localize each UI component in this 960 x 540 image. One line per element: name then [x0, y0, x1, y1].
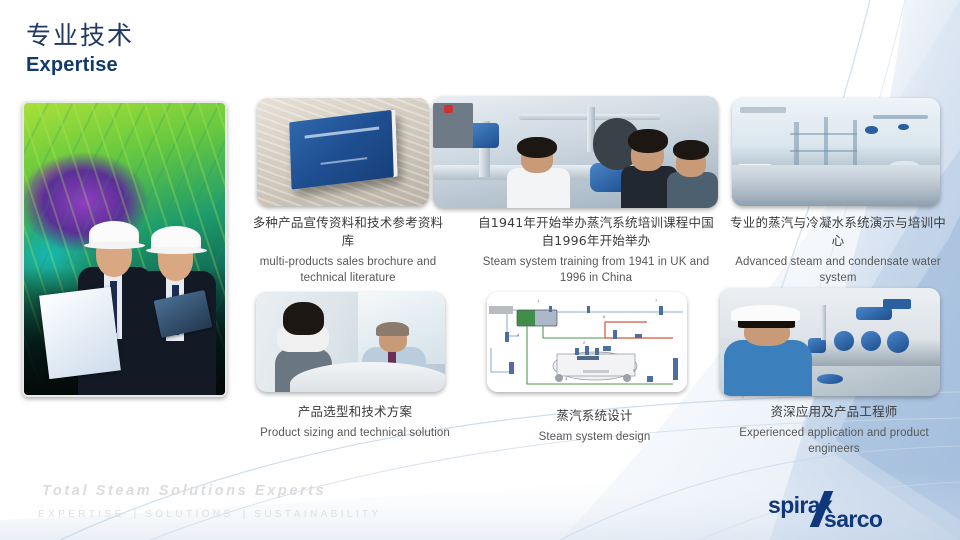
- page-title-cn: 专业技术: [26, 22, 134, 51]
- steam-system-schematic-diagram: 146 725 3: [487, 292, 687, 392]
- footer-separator-2: |: [234, 509, 255, 520]
- customer-consultation-meeting-photo: [256, 292, 445, 392]
- slide-title-block: 专业技术 Expertise: [26, 22, 134, 77]
- caption-brochure: 多种产品宣传资料和技术参考资料库 multi-products sales br…: [248, 214, 448, 286]
- caption-brochure-cn: 多种产品宣传资料和技术参考资料库: [248, 214, 448, 250]
- caption-centre: 专业的蒸汽与冷凝水系统演示与培训中心 Advanced steam and co…: [726, 214, 950, 286]
- caption-brochure-en: multi-products sales brochure and techni…: [248, 254, 448, 287]
- logo-word-sarco: sarco: [824, 506, 882, 533]
- footer-pillar-expertise: EXPERTISE: [38, 509, 125, 520]
- caption-design-cn: 蒸汽系统设计: [492, 407, 697, 425]
- field-engineer-valves-photo: [720, 288, 940, 396]
- caption-engineers-cn: 资深应用及产品工程师: [718, 403, 950, 421]
- caption-training-cn: 自1941年开始举办蒸汽系统培训课程中国自1996年开始举办: [478, 214, 714, 250]
- caption-sizing: 产品选型和技术方案 Product sizing and technical s…: [250, 403, 460, 441]
- footer-tagline: Total Steam Solutions Experts: [42, 483, 326, 499]
- caption-sizing-cn: 产品选型和技术方案: [250, 403, 460, 421]
- caption-training: 自1941年开始举办蒸汽系统培训课程中国自1996年开始举办 Steam sys…: [478, 214, 714, 286]
- caption-design: 蒸汽系统设计 Steam system design: [492, 407, 697, 445]
- caption-engineers-en: Experienced application and product engi…: [718, 425, 950, 458]
- spirax-sarco-logo: spirax sarco: [768, 492, 943, 532]
- caption-training-en: Steam system training from 1941 in UK an…: [478, 254, 714, 287]
- steam-training-session-photo: [433, 96, 718, 208]
- footer-pillar-solutions: SOLUTIONS: [145, 509, 233, 520]
- page-title-en: Expertise: [26, 54, 134, 77]
- caption-centre-cn: 专业的蒸汽与冷凝水系统演示与培训中心: [726, 214, 950, 250]
- caption-engineers: 资深应用及产品工程师 Experienced application and p…: [718, 403, 950, 457]
- product-brochure-book-photo: [257, 98, 429, 206]
- footer-pillars: EXPERTISE | SOLUTIONS | SUSTAINABILITY: [38, 509, 382, 520]
- caption-design-en: Steam system design: [492, 429, 697, 445]
- demonstration-training-centre-photo: [732, 98, 940, 206]
- caption-centre-en: Advanced steam and condensate water syst…: [726, 254, 950, 287]
- engineers-reviewing-blueprint-photo: [22, 101, 227, 397]
- footer-pillar-sustainability: SUSTAINABILITY: [254, 509, 381, 520]
- footer-separator-1: |: [125, 509, 146, 520]
- caption-sizing-en: Product sizing and technical solution: [250, 425, 460, 441]
